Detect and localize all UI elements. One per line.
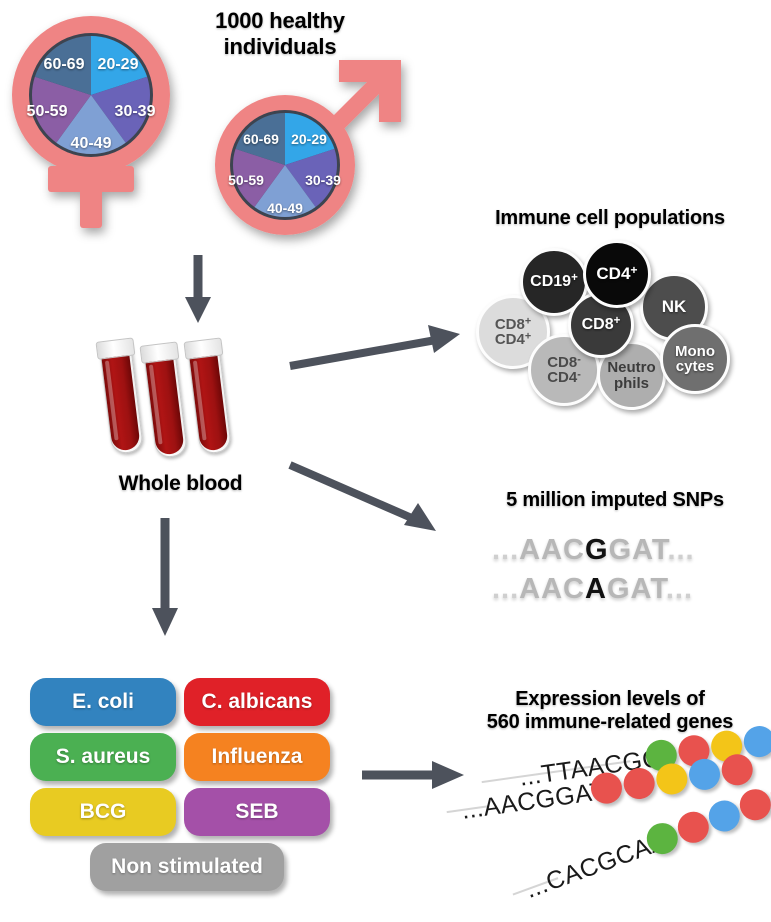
pie-label-female-40-49: 40-49 xyxy=(71,135,112,153)
immune-cell-cd4: CD4+ xyxy=(583,240,651,308)
figure-canvas: 1000 healthy individuals xyxy=(0,0,771,922)
snp-post: GAT xyxy=(607,573,666,605)
stimulus-label: S. aureus xyxy=(56,745,151,769)
pie-label-male-20-29: 20-29 xyxy=(291,131,327,147)
snps-title: 5 million imputed SNPs xyxy=(470,489,760,512)
immune-cell-cd8-label: CD8+ xyxy=(582,317,621,333)
pie-label-male-60-69: 60-69 xyxy=(243,131,279,147)
cohort-title-line1: 1000 healthy xyxy=(175,8,385,34)
blood-tubes-group xyxy=(108,335,258,460)
immune-cell-neutrophils-label: Neutrophils xyxy=(607,360,655,391)
snp-prefix: ... xyxy=(492,534,519,566)
snp-sequence-row: ...AACGGAT... xyxy=(492,534,695,567)
arrow-cohort-to-blood xyxy=(183,255,213,325)
immune-cell-monocytes-label: Monocytes xyxy=(675,344,715,375)
snp-pre: AAC xyxy=(519,573,585,605)
immune-cells-group: CD19+ CD4+ CD8+ CD4+ CD8+ NK xyxy=(460,240,760,410)
immune-cell-cd19-label: CD19+ xyxy=(530,274,578,290)
pie-label-female-20-29: 20-29 xyxy=(98,56,139,74)
expression-bead xyxy=(673,807,713,847)
stimuli-group: E. coli C. albicans S. aureus Influenza … xyxy=(30,678,340,893)
pie-label-female-30-39: 30-39 xyxy=(115,103,156,121)
female-symbol-graphic xyxy=(8,8,198,243)
stimulus-label: SEB xyxy=(235,800,278,824)
immune-cell-nk-label: NK xyxy=(662,298,687,316)
arrow-blood-to-snps xyxy=(288,455,468,545)
pie-label-male-40-49: 40-49 xyxy=(267,200,303,216)
pie-label-male-50-59: 50-59 xyxy=(228,172,264,188)
immune-cell-monocytes: Monocytes xyxy=(660,324,730,394)
immune-cell-cd4-label: CD4+ xyxy=(596,265,637,283)
arrow-blood-to-immune xyxy=(288,320,468,380)
pie-label-female-50-59: 50-59 xyxy=(27,103,68,121)
expression-strands-group: ...TTAACGG ...AACGGAT ...CACGCAA xyxy=(448,740,771,905)
stimulus-pill-seb[interactable]: SEB xyxy=(184,788,330,836)
pie-label-female-60-69: 60-69 xyxy=(44,56,85,74)
blood-tube xyxy=(143,344,186,457)
expression-title-line1: Expression levels of xyxy=(455,688,765,711)
stimulus-label: E. coli xyxy=(72,690,134,714)
snp-prefix: ... xyxy=(492,573,519,605)
expression-bead xyxy=(704,796,744,836)
male-symbol-graphic xyxy=(205,48,405,248)
snp-suffix: ... xyxy=(666,573,693,605)
stimulus-label: BCG xyxy=(80,800,127,824)
expression-title-line2: 560 immune-related genes xyxy=(455,711,765,734)
stimulus-label: Non stimulated xyxy=(111,855,263,879)
pie-label-male-30-39: 30-39 xyxy=(305,172,341,188)
snp-pre: AAC xyxy=(519,534,585,566)
immune-cell-cd8neg-cd4neg-label: CD8- CD4- xyxy=(547,355,581,386)
snp-sequence-row: ...AACAGAT... xyxy=(492,573,693,606)
snp-highlight-allele: G xyxy=(585,534,609,566)
snp-suffix: ... xyxy=(667,534,694,566)
snp-highlight-allele: A xyxy=(585,573,607,605)
stimulus-pill-influenza[interactable]: Influenza xyxy=(184,733,330,781)
blood-tube xyxy=(99,340,142,453)
female-gender-symbol: 20-29 30-39 40-49 50-59 60-69 xyxy=(8,8,198,243)
blood-tube xyxy=(187,340,230,453)
immune-cell-cd8pos-cd4pos-label: CD8+ CD4+ xyxy=(495,317,531,348)
stimulus-pill-bcg[interactable]: BCG xyxy=(30,788,176,836)
snp-post: GAT xyxy=(609,534,668,566)
stimulus-label: Influenza xyxy=(211,745,302,769)
arrow-blood-to-stimuli xyxy=(150,518,180,638)
immune-title: Immune cell populations xyxy=(460,207,760,230)
stimulus-pill-s-aureus[interactable]: S. aureus xyxy=(30,733,176,781)
stimulus-pill-e-coli[interactable]: E. coli xyxy=(30,678,176,726)
stimulus-label: C. albicans xyxy=(202,690,313,714)
stimulus-pill-non-stimulated[interactable]: Non stimulated xyxy=(90,843,284,891)
whole-blood-label: Whole blood xyxy=(78,472,283,497)
stimulus-pill-c-albicans[interactable]: C. albicans xyxy=(184,678,330,726)
male-gender-symbol: 20-29 30-39 40-49 50-59 60-69 xyxy=(205,48,405,248)
expression-title: Expression levels of 560 immune-related … xyxy=(455,688,765,735)
